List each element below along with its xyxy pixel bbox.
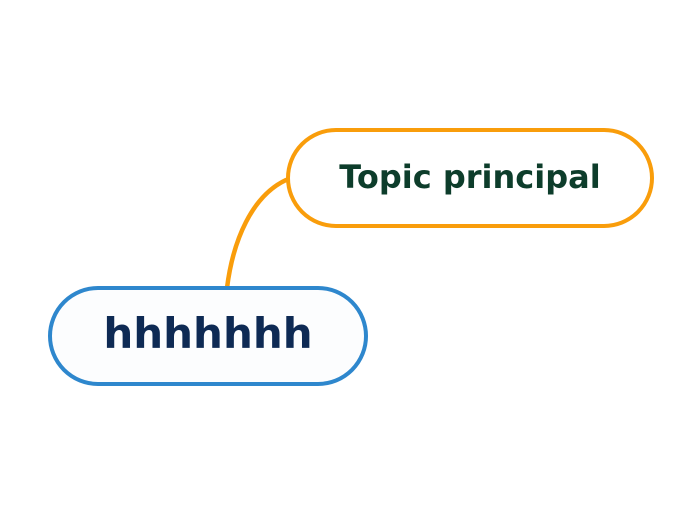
mindmap-node-child[interactable]: hhhhhhh <box>48 286 368 386</box>
mindmap-node-root[interactable]: Topic principal <box>286 128 654 228</box>
edge-root-to-child <box>227 180 286 288</box>
mindmap-node-child-label: hhhhhhh <box>103 313 312 359</box>
edge-layer <box>0 0 696 520</box>
mindmap-canvas[interactable]: Topic principal hhhhhhh <box>0 0 696 520</box>
mindmap-node-root-label: Topic principal <box>339 161 600 195</box>
